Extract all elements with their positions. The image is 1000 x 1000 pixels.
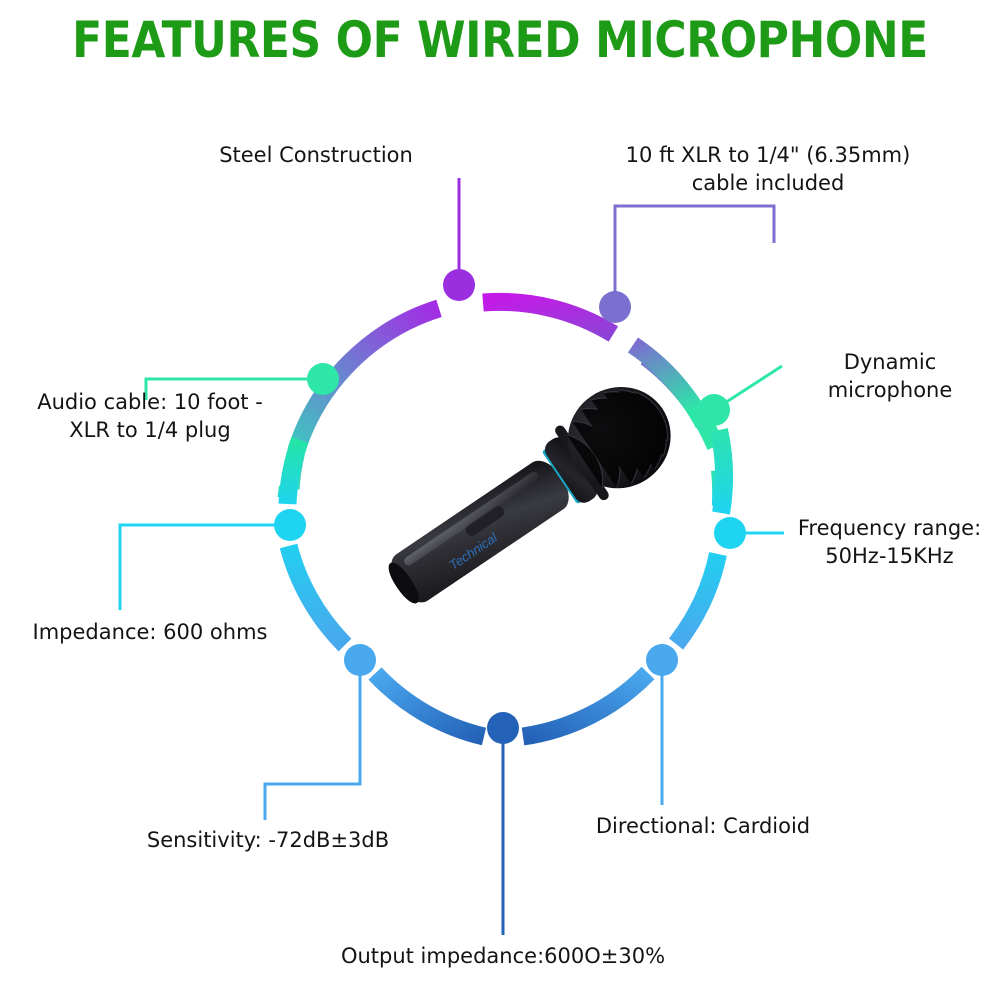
callout-label-sensitivity: Sensitivity: -72dB±3dB — [118, 826, 418, 854]
node-cable-included[interactable] — [599, 291, 631, 323]
leader-line-cable-included-b — [615, 206, 774, 307]
leader-line-sensitivity — [265, 660, 360, 820]
leader-line-impedance — [120, 525, 290, 610]
callout-label-audio-cable: Audio cable: 10 foot - XLR to 1/4 plug — [5, 388, 295, 444]
ring-segment-top-right — [483, 302, 613, 334]
callout-label-impedance: Impedance: 600 ohms — [0, 618, 300, 646]
callout-label-frequency-range: Frequency range: 50Hz-15KHz — [782, 514, 997, 570]
callout-label-steel-construction: Steel Construction — [166, 141, 466, 169]
callout-label-directional: Directional: Cardioid — [563, 812, 843, 840]
ring-segment-bottom-right — [523, 673, 648, 737]
node-directional[interactable] — [646, 644, 678, 676]
callout-label-dynamic-microphone: Dynamic microphone — [790, 348, 990, 404]
microphone-body-group: Technical — [369, 385, 690, 615]
ring-segment-left-upper-mid — [288, 440, 301, 504]
node-output-impedance[interactable] — [487, 712, 519, 744]
callout-label-cable-included: 10 ft XLR to 1/4" (6.35mm) cable include… — [598, 141, 938, 197]
node-steel-construction[interactable] — [443, 269, 475, 301]
infographic-canvas: FEATURES OF WIRED MICROPHONE — [0, 0, 1000, 1000]
callout-label-output-impedance: Output impedance:600O±30% — [313, 942, 693, 970]
microphone-image: Technical — [330, 385, 720, 615]
node-sensitivity[interactable] — [344, 644, 376, 676]
node-impedance[interactable] — [274, 509, 306, 541]
ring-segment-bottom-left — [375, 674, 484, 737]
